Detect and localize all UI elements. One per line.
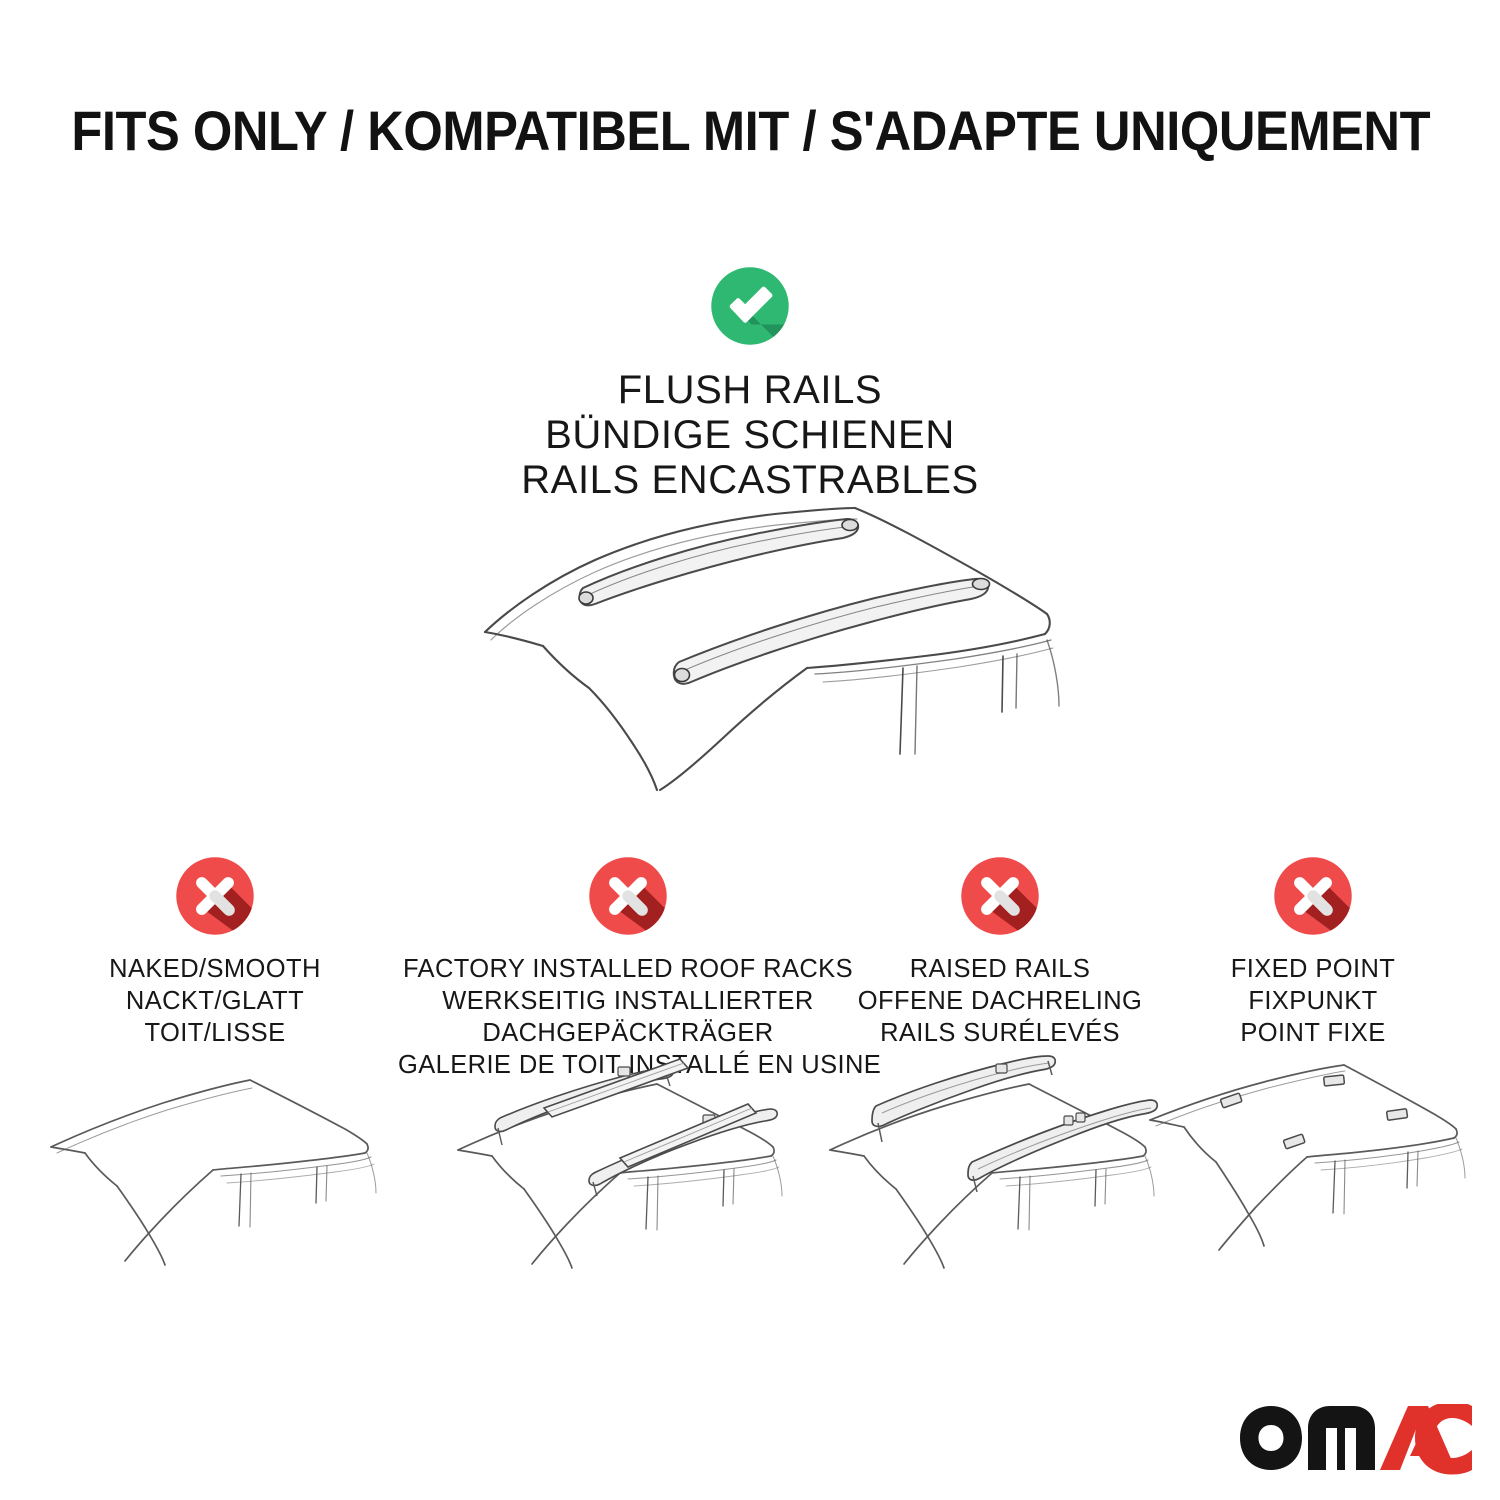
label-en: RAISED RAILS — [845, 954, 1155, 986]
label-en: FIXED POINT — [1160, 954, 1466, 986]
label-de: FIXPUNKT — [1160, 986, 1466, 1018]
x-circle-icon — [956, 852, 1044, 940]
logo-letter-c — [1415, 1404, 1472, 1475]
car-roof-factory-roof-racks-illustration — [448, 1050, 808, 1300]
x-circle-icon — [584, 852, 672, 940]
label-de-2: DACHGEPÄCKTRÄGER — [398, 1018, 858, 1050]
label-de: NACKT/GLATT — [40, 986, 390, 1018]
incompatible-item-factory-roof-racks: FACTORY INSTALLED ROOF RACKS WERKSEITIG … — [398, 852, 858, 1082]
label-fr: TOIT/LISSE — [40, 1018, 390, 1050]
page-title-text: FITS ONLY / KOMPATIBEL MIT / S'ADAPTE UN… — [71, 103, 1430, 159]
label-fr: POINT FIXE — [1160, 1018, 1466, 1050]
compatible-label-de: BÜNDIGE SCHIENEN — [0, 413, 1500, 458]
label-fr: RAILS SURÉLEVÉS — [845, 1018, 1155, 1050]
label-en: FACTORY INSTALLED ROOF RACKS — [398, 954, 858, 986]
incompatible-item-raised-rails: RAISED RAILS OFFENE DACHRELING RAILS SUR… — [845, 852, 1155, 1050]
incompatible-caption: FIXED POINT FIXPUNKT POINT FIXE — [1160, 954, 1466, 1050]
car-roof-raised-rails-illustration — [820, 1050, 1180, 1300]
incompatible-caption: NAKED/SMOOTH NACKT/GLATT TOIT/LISSE — [40, 954, 390, 1050]
page-title: FITS ONLY / KOMPATIBEL MIT / S'ADAPTE UN… — [0, 103, 1500, 159]
flush-rail-lower — [674, 579, 990, 684]
cross-bars — [544, 1059, 756, 1167]
incompatible-section: NAKED/SMOOTH NACKT/GLATT TOIT/LISSE — [0, 852, 1500, 1472]
label-de-1: WERKSEITIG INSTALLIERTER — [398, 986, 858, 1018]
omac-logo — [1238, 1404, 1474, 1480]
compatible-label-en: FLUSH RAILS — [0, 368, 1500, 413]
compatible-section: FLUSH RAILS BÜNDIGE SCHIENEN RAILS ENCAS… — [0, 262, 1500, 502]
compatible-caption: FLUSH RAILS BÜNDIGE SCHIENEN RAILS ENCAS… — [0, 368, 1500, 502]
car-roof-flush-rails-illustration — [455, 492, 1065, 792]
incompatible-item-naked-smooth: NAKED/SMOOTH NACKT/GLATT TOIT/LISSE — [40, 852, 390, 1050]
logo-letter-m — [1308, 1406, 1375, 1470]
incompatible-item-fixed-point: FIXED POINT FIXPUNKT POINT FIXE — [1160, 852, 1466, 1050]
car-roof-fixed-point-illustration — [1138, 1050, 1488, 1300]
x-circle-icon — [171, 852, 259, 940]
logo-letter-o — [1240, 1406, 1302, 1470]
label-de: OFFENE DACHRELING — [845, 986, 1155, 1018]
incompatible-caption: RAISED RAILS OFFENE DACHRELING RAILS SUR… — [845, 954, 1155, 1050]
check-circle-icon — [706, 262, 794, 350]
label-en: NAKED/SMOOTH — [40, 954, 390, 986]
x-circle-icon — [1269, 852, 1357, 940]
flush-rail-upper — [579, 519, 858, 605]
car-roof-naked-smooth-illustration — [45, 1050, 385, 1300]
